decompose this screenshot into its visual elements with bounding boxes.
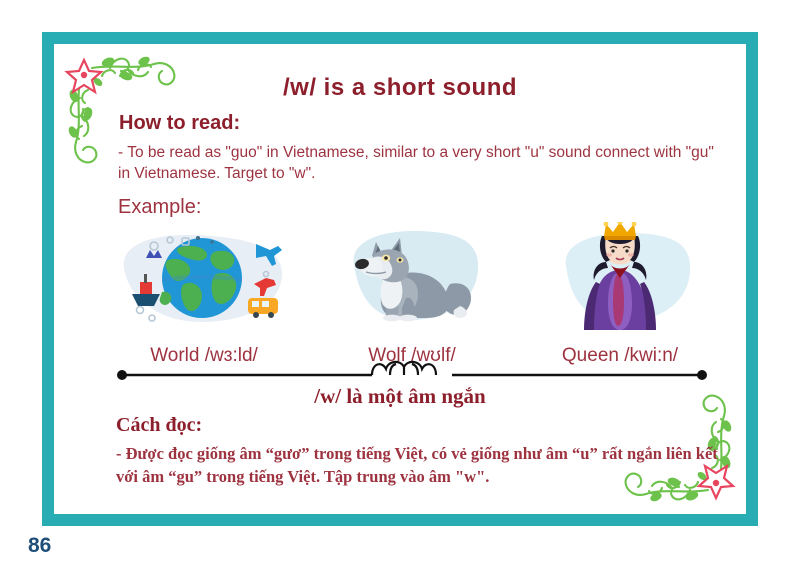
how-to-read-heading: How to read:	[119, 112, 240, 135]
crown-arc-divider-icon	[114, 359, 710, 381]
example-heading: Example:	[118, 196, 201, 219]
cach-doc-body: - Được đọc giống âm “gươ” trong tiếng Vi…	[116, 442, 722, 489]
cach-doc-heading: Cách đọc:	[116, 414, 202, 437]
teal-border-frame: /w/ is a short sound How to read: - To b…	[42, 32, 758, 526]
examples-row: World /wɜ:ld/	[106, 222, 718, 367]
queen-illustration	[522, 222, 718, 334]
globe-illustration	[106, 222, 302, 334]
crown-icon	[604, 222, 637, 240]
page-title: /w/ is a short sound	[54, 74, 746, 102]
how-to-read-body: - To be read as "guo" in Vietnamese, sim…	[118, 142, 718, 185]
example-item-wolf: Wolf /wʊlf/	[314, 222, 510, 367]
wolf-illustration	[314, 222, 510, 334]
page-number: 86	[28, 534, 51, 558]
vietnamese-title: /w/ là một âm ngắn	[54, 384, 746, 409]
frame-content: /w/ is a short sound How to read: - To b…	[54, 44, 746, 514]
bus-icon	[248, 298, 278, 318]
example-item-world: World /wɜ:ld/	[106, 222, 302, 367]
example-item-queen: Queen /kwi:n/	[522, 222, 718, 367]
worksheet-page: /w/ is a short sound How to read: - To b…	[0, 0, 800, 566]
